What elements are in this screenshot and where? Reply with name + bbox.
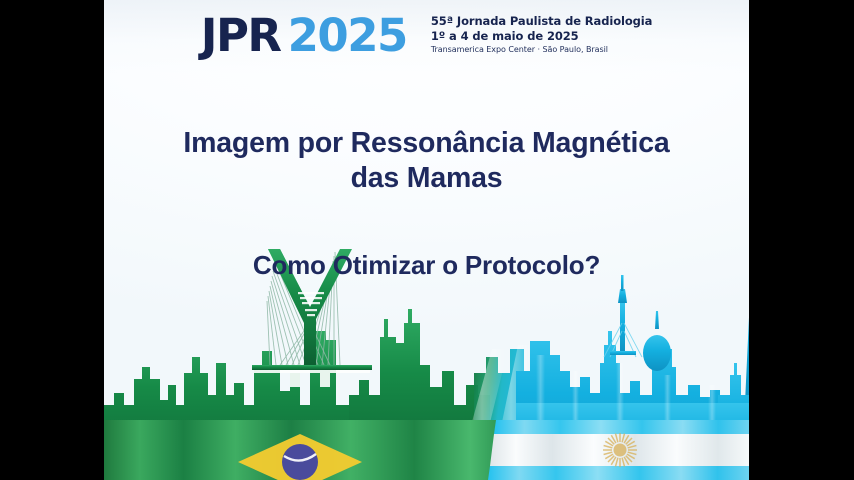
event-info-block: 55ª Jornada Paulista de Radiologia 1º a …: [431, 9, 652, 56]
page-title-line-1: Imagem por Ressonância Magnética: [183, 127, 669, 159]
letterbox-bar-left: [0, 0, 104, 480]
event-venue: Transamerica Expo Center · São Paulo, Br…: [431, 44, 652, 56]
jpr-wordmark-name: JPR: [201, 13, 281, 58]
page-title-line-2: das Mamas: [351, 162, 503, 194]
brazil-flag-globe: [282, 444, 318, 480]
bridge-deck: [252, 365, 372, 370]
flags-svg: [104, 420, 749, 480]
page-title: Imagem por Ressonância Magnética das Mam…: [104, 126, 749, 196]
page-subtitle: Como Otimizar o Protocolo?: [104, 196, 749, 281]
presentation-slide: JPR 2025 55ª Jornada Paulista de Radiolo…: [104, 0, 749, 480]
letterbox-bar-right: [749, 0, 854, 480]
flag-brazil: [104, 420, 502, 480]
flag-argentina: [488, 420, 749, 480]
slide-headings: Imagem por Ressonância Magnética das Mam…: [104, 126, 749, 281]
argentina-sun-of-may: [603, 433, 637, 467]
logo-divider: [418, 15, 420, 50]
event-dates: 1º a 4 de maio de 2025: [431, 29, 652, 44]
jpr-wordmark: JPR 2025: [201, 9, 407, 58]
event-name: 55ª Jornada Paulista de Radiologia: [431, 14, 652, 29]
slide-viewport: JPR 2025 55ª Jornada Paulista de Radiolo…: [0, 0, 854, 480]
jpr-wordmark-year: 2025: [288, 13, 407, 58]
flags-strip: [104, 420, 749, 480]
jpr-logo-lockup: JPR 2025 55ª Jornada Paulista de Radiolo…: [104, 9, 749, 58]
domed-building: [643, 311, 671, 371]
